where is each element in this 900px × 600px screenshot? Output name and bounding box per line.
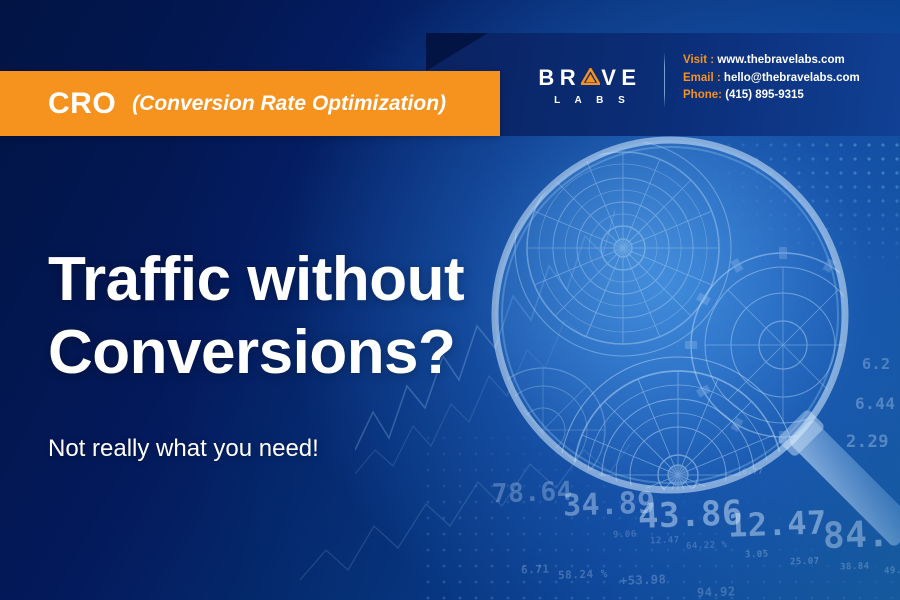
gear-icon-lower: [560, 357, 796, 593]
cro-expansion: (Conversion Rate Optimization): [132, 92, 446, 116]
cro-marketing-banner: 78.6434.8943.8612.4784.6.7158.24 %+53.98…: [0, 0, 900, 600]
contact-value-visit[interactable]: www.thebravelabs.com: [717, 54, 844, 66]
logo-wordmark: BR VE: [538, 67, 641, 89]
subheadline: Not really what you need!: [48, 435, 319, 463]
line-chart-icon-lower: [300, 430, 630, 600]
ticker-small: 58.24 %: [558, 567, 608, 582]
contact-row-email[interactable]: Email : hello@thebravelabs.com: [683, 70, 860, 88]
contact-value-phone[interactable]: (415) 895-9315: [725, 89, 804, 101]
header-divider: [664, 52, 665, 108]
ticker-right: 6.44: [855, 394, 896, 413]
logo-text-ve: VE: [601, 67, 641, 89]
ticker-small: 25.07: [790, 556, 820, 567]
ticker-large: 84.: [822, 514, 890, 557]
ticker-small: 6.77: [742, 467, 764, 477]
ticker-small: 49.35: [884, 565, 900, 576]
dot-grid-pattern-lower: [420, 430, 900, 600]
triangle-icon: [581, 67, 600, 89]
gear-icon: [515, 140, 731, 356]
gear-icon-small: [483, 368, 605, 492]
brave-labs-logo[interactable]: BR VE L A B S: [531, 60, 649, 112]
ticker-small: +53.98: [620, 572, 667, 588]
headline-line-1: Traffic without: [48, 243, 464, 316]
page-title: Traffic without Conversions?: [48, 243, 464, 389]
dot-grid-pattern: [470, 110, 900, 310]
ticker-large: 43.86: [637, 493, 743, 537]
logo-subtext: L A B S: [549, 95, 631, 106]
ticker-large: 34.89: [562, 485, 656, 523]
cro-abbreviation: CRO: [48, 87, 116, 121]
magnifier-handle: [776, 408, 900, 548]
ticker-right: 2.29: [846, 432, 889, 452]
contact-label-email: Email :: [683, 72, 721, 84]
ticker-large: 78.64: [492, 477, 574, 510]
magnifying-glass-icon: [483, 130, 900, 600]
ticker-right: 6.2: [862, 355, 891, 373]
logo-text-br: BR: [538, 67, 581, 89]
ticker-small: 12.47: [650, 535, 680, 546]
ticker-small: 6.71: [521, 563, 550, 577]
contact-info: Visit : www.thebravelabs.com Email : hel…: [683, 52, 860, 105]
ticker-large: 12.47: [727, 503, 827, 544]
ticker-small: 64.22 %: [686, 540, 728, 551]
contact-label-phone: Phone:: [683, 89, 722, 101]
ticker-small: 9.06: [613, 530, 637, 541]
ticker-small: 94.92: [697, 584, 736, 599]
ticker-small: 3.05: [745, 550, 769, 561]
contact-row-phone[interactable]: Phone: (415) 895-9315: [683, 87, 860, 105]
contact-value-email[interactable]: hello@thebravelabs.com: [724, 72, 860, 84]
headline-line-2: Conversions?: [48, 316, 464, 389]
ticker-small: 38.84: [840, 561, 870, 572]
gear-icon-right: [685, 247, 881, 443]
cro-tag-bar: CRO (Conversion Rate Optimization): [0, 71, 500, 136]
contact-row-visit[interactable]: Visit : www.thebravelabs.com: [683, 52, 860, 70]
contact-label-visit: Visit :: [683, 54, 714, 66]
